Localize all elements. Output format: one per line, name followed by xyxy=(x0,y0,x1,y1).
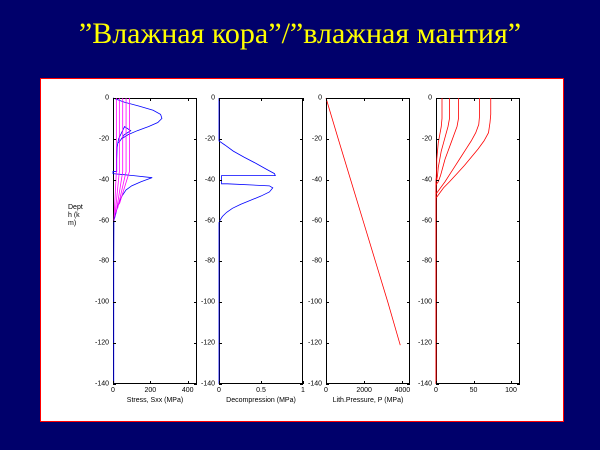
subplot-decompression-curves xyxy=(219,98,303,384)
x-tick-mark xyxy=(326,98,327,101)
y-tick-label: -20 xyxy=(205,135,215,142)
subplot-profiles: 0-20-40-60-80-100-120-140050100 xyxy=(436,98,520,384)
y-tick-mark xyxy=(326,139,329,140)
subplot-stress-curves xyxy=(113,98,197,384)
x-tick-label: 200 xyxy=(144,387,156,394)
y-tick-label: -120 xyxy=(201,340,215,347)
y-tick-label: -80 xyxy=(312,258,322,265)
y-tick-label: -60 xyxy=(422,217,432,224)
subplot-decompression: 0-20-40-60-80-100-120-14000.51 Decompres… xyxy=(219,98,303,384)
y-tick-mark xyxy=(517,384,520,385)
y-tick-mark xyxy=(194,180,197,181)
y-tick-mark xyxy=(407,384,410,385)
y-tick-mark xyxy=(436,343,439,344)
y-tick-label: -140 xyxy=(308,381,322,388)
x-tick-mark xyxy=(261,98,262,101)
x-tick-label: 0 xyxy=(434,387,438,394)
y-tick-label: -120 xyxy=(95,340,109,347)
y-tick-mark xyxy=(113,139,116,140)
y-tick-mark xyxy=(517,221,520,222)
y-tick-label: -80 xyxy=(205,258,215,265)
y-tick-label: -120 xyxy=(418,340,432,347)
x-tick-mark xyxy=(436,98,437,101)
y-tick-mark xyxy=(113,302,116,303)
y-tick-mark xyxy=(113,343,116,344)
y-tick-mark xyxy=(219,302,222,303)
x-tick-mark xyxy=(474,98,475,101)
y-tick-mark xyxy=(326,384,329,385)
subplot-pressure: 0-20-40-60-80-100-120-140020004000 Lith.… xyxy=(326,98,410,384)
y-tick-mark xyxy=(517,261,520,262)
y-tick-mark xyxy=(407,302,410,303)
y-tick-label: -140 xyxy=(201,381,215,388)
y-tick-label: -140 xyxy=(418,381,432,388)
x-tick-mark xyxy=(113,98,114,101)
y-tick-mark xyxy=(194,221,197,222)
y-tick-mark xyxy=(300,139,303,140)
y-tick-mark xyxy=(113,261,116,262)
series-line xyxy=(219,98,275,384)
y-tick-label: 0 xyxy=(428,95,432,102)
y-tick-label: -40 xyxy=(205,176,215,183)
y-tick-label: 0 xyxy=(211,95,215,102)
y-tick-label: -20 xyxy=(312,135,322,142)
y-tick-mark xyxy=(407,221,410,222)
y-tick-label: -60 xyxy=(99,217,109,224)
x-tick-mark xyxy=(150,381,151,384)
x-tick-label: 4000 xyxy=(395,387,411,394)
series-line xyxy=(436,98,442,384)
x-tick-label: 1 xyxy=(301,387,305,394)
y-tick-mark xyxy=(436,180,439,181)
x-tick-mark xyxy=(219,98,220,101)
y-tick-mark xyxy=(194,302,197,303)
y-tick-label: -60 xyxy=(205,217,215,224)
x-tick-mark xyxy=(474,381,475,384)
y-tick-mark xyxy=(407,180,410,181)
y-tick-mark xyxy=(300,384,303,385)
y-tick-mark xyxy=(407,98,410,99)
y-tick-mark xyxy=(194,139,197,140)
y-tick-mark xyxy=(219,261,222,262)
y-tick-mark xyxy=(436,221,439,222)
x-tick-label: 0 xyxy=(324,387,328,394)
y-tick-mark xyxy=(219,180,222,181)
y-tick-label: -120 xyxy=(308,340,322,347)
y-tick-label: -20 xyxy=(99,135,109,142)
y-tick-mark xyxy=(436,139,439,140)
subplot-stress: 0-20-40-60-80-100-120-1400200400 Stress,… xyxy=(113,98,197,384)
x-tick-label: 2000 xyxy=(356,387,372,394)
y-tick-mark xyxy=(407,139,410,140)
x-tick-mark xyxy=(303,381,304,384)
y-tick-label: -40 xyxy=(99,176,109,183)
x-tick-label: 50 xyxy=(470,387,478,394)
x-tick-mark xyxy=(326,381,327,384)
slide-title: ”Влажная кора”/”влажная мантия” xyxy=(0,16,600,52)
series-line xyxy=(436,98,480,384)
x-tick-mark xyxy=(188,98,189,101)
figure-panel: Depth (km) 0-20-40-60-80-100-120-1400200… xyxy=(40,78,564,422)
y-tick-mark xyxy=(407,261,410,262)
x-tick-mark xyxy=(436,381,437,384)
subplot-pressure-xlabel: Lith.Pressure, P (MPa) xyxy=(333,397,404,405)
y-tick-mark xyxy=(219,221,222,222)
y-tick-label: -140 xyxy=(95,381,109,388)
presentation-slide: ”Влажная кора”/”влажная мантия” Depth (k… xyxy=(0,0,600,450)
y-tick-label: 0 xyxy=(105,95,109,102)
x-tick-mark xyxy=(303,98,304,101)
x-tick-label: 0 xyxy=(217,387,221,394)
series-line xyxy=(113,98,162,384)
x-tick-label: 0 xyxy=(111,387,115,394)
y-tick-mark xyxy=(436,261,439,262)
x-tick-mark xyxy=(364,381,365,384)
y-tick-mark xyxy=(326,261,329,262)
y-tick-mark xyxy=(113,180,116,181)
x-tick-mark xyxy=(402,98,403,101)
x-tick-label: 100 xyxy=(505,387,517,394)
y-tick-mark xyxy=(300,302,303,303)
y-tick-label: -100 xyxy=(201,299,215,306)
y-tick-mark xyxy=(219,139,222,140)
y-tick-label: 0 xyxy=(318,95,322,102)
x-tick-label: 0.5 xyxy=(256,387,266,394)
y-tick-mark xyxy=(113,221,116,222)
y-tick-mark xyxy=(436,302,439,303)
y-tick-mark xyxy=(326,221,329,222)
y-tick-label: -20 xyxy=(422,135,432,142)
y-tick-label: -100 xyxy=(95,299,109,306)
y-tick-label: -40 xyxy=(422,176,432,183)
y-tick-mark xyxy=(407,343,410,344)
y-tick-mark xyxy=(326,180,329,181)
y-tick-mark xyxy=(300,343,303,344)
x-tick-mark xyxy=(402,381,403,384)
y-tick-label: -40 xyxy=(312,176,322,183)
y-tick-mark xyxy=(517,98,520,99)
y-axis-label: Depth (km) xyxy=(68,204,85,228)
y-tick-mark xyxy=(326,302,329,303)
y-tick-mark xyxy=(517,180,520,181)
x-tick-mark xyxy=(261,381,262,384)
series-line xyxy=(436,98,449,384)
y-tick-mark xyxy=(219,343,222,344)
subplot-stress-xlabel: Stress, Sxx (MPa) xyxy=(127,397,183,405)
x-tick-mark xyxy=(219,381,220,384)
y-tick-mark xyxy=(300,261,303,262)
y-tick-mark xyxy=(517,343,520,344)
y-tick-mark xyxy=(219,384,222,385)
series-line xyxy=(436,98,459,384)
y-tick-mark xyxy=(194,261,197,262)
y-tick-label: -60 xyxy=(312,217,322,224)
x-tick-mark xyxy=(364,98,365,101)
series-line xyxy=(326,98,400,345)
y-tick-label: -100 xyxy=(418,299,432,306)
subplot-pressure-curves xyxy=(326,98,410,384)
x-tick-mark xyxy=(113,381,114,384)
y-tick-mark xyxy=(194,98,197,99)
x-tick-mark xyxy=(188,381,189,384)
y-tick-mark xyxy=(194,343,197,344)
y-tick-mark xyxy=(300,221,303,222)
x-tick-mark xyxy=(150,98,151,101)
x-tick-mark xyxy=(511,381,512,384)
y-tick-label: -80 xyxy=(99,258,109,265)
y-tick-mark xyxy=(436,384,439,385)
y-tick-mark xyxy=(194,384,197,385)
y-tick-mark xyxy=(300,180,303,181)
subplot-decompression-xlabel: Decompression (MPa) xyxy=(226,397,296,405)
y-tick-mark xyxy=(326,343,329,344)
y-tick-mark xyxy=(113,384,116,385)
y-tick-label: -100 xyxy=(308,299,322,306)
y-tick-mark xyxy=(517,139,520,140)
y-tick-mark xyxy=(517,302,520,303)
y-tick-label: -80 xyxy=(422,258,432,265)
x-tick-label: 400 xyxy=(182,387,194,394)
x-tick-mark xyxy=(511,98,512,101)
subplot-profiles-curves xyxy=(436,98,520,384)
